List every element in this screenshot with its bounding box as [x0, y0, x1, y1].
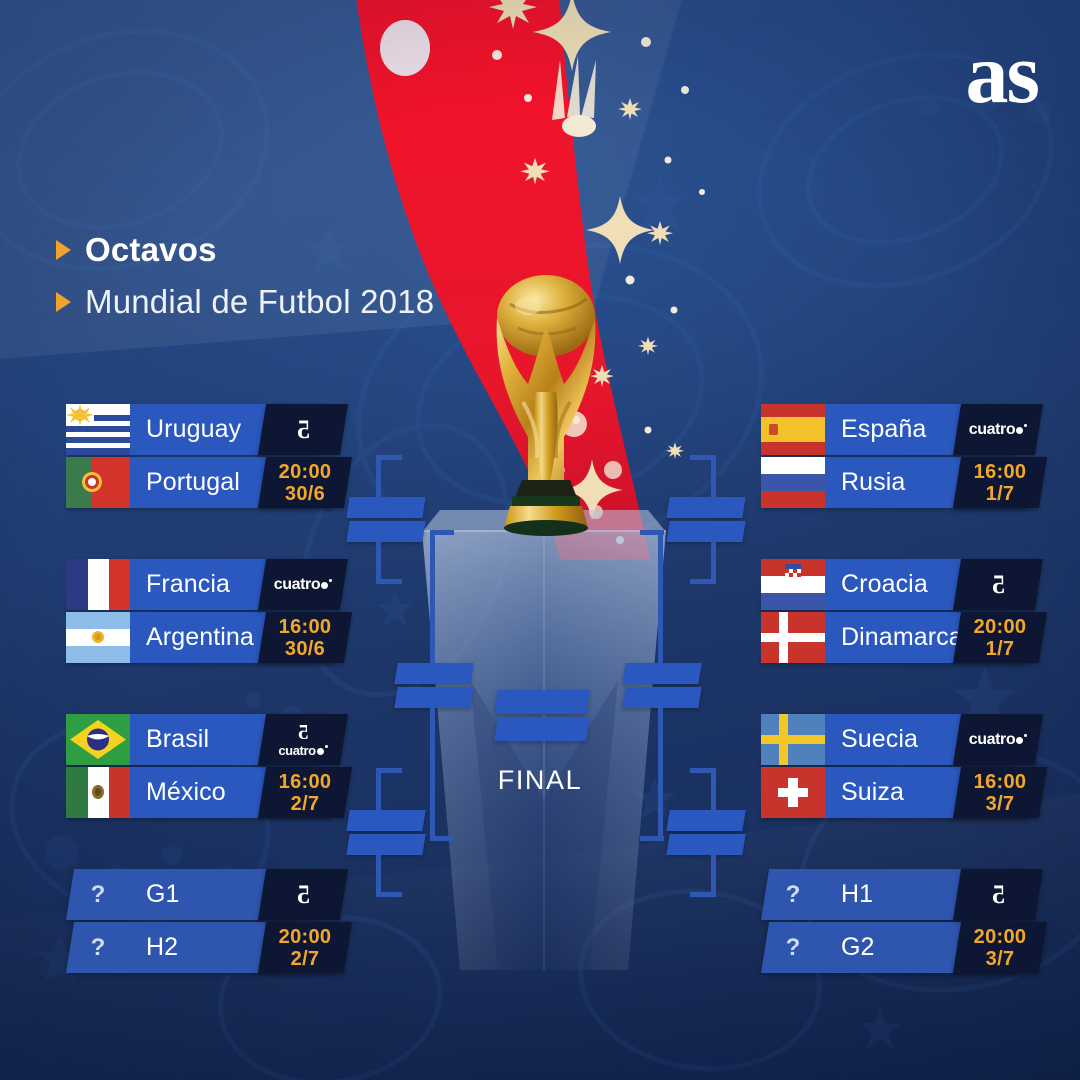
match-row-top[interactable]: Croacia 5 — [761, 559, 1013, 610]
channel-cell[interactable]: 5 — [957, 559, 1039, 610]
unknown-team-icon: ? — [761, 922, 825, 973]
match-row-bottom[interactable]: Dinamarca 20:00 1/7 — [761, 612, 1027, 663]
kickoff-cell: 20:00 30/6 — [262, 457, 348, 508]
match-g1-h2[interactable]: ? G1 5 ? H2 20:00 2/7 — [66, 869, 344, 973]
match-row-top[interactable]: Uruguay 5 — [66, 404, 318, 455]
qf-slot-right-2-top[interactable] — [666, 810, 745, 831]
connector-right-2b — [711, 855, 716, 897]
mexico-flag — [66, 767, 130, 818]
match-row-bottom[interactable]: ? H2 20:00 2/7 — [66, 922, 332, 973]
match-row-bottom[interactable]: Argentina 16:00 30/6 — [66, 612, 332, 663]
kickoff-cell: 16:00 3/7 — [957, 767, 1043, 818]
channel-cell[interactable]: 5 — [262, 869, 344, 920]
connector-right-sf-a-cap — [640, 530, 664, 535]
telecinco-logo-icon: 5 — [992, 882, 1005, 908]
sf-slot-right-bottom[interactable] — [622, 687, 701, 708]
match-row-top[interactable]: ? G1 5 — [66, 869, 318, 920]
connector-left-sf-a-cap — [430, 530, 454, 535]
match-uruguay-portugal[interactable]: Uruguay 5 Portugal 20:00 30/6 — [66, 404, 344, 508]
kickoff-time: 16:00 — [974, 771, 1027, 793]
kickoff-time: 20:00 — [974, 616, 1027, 638]
unknown-team-icon: ? — [66, 922, 130, 973]
connector-right-1b-cap — [690, 579, 716, 584]
match-espana-rusia[interactable]: España cuatro Rusia 16:00 1/7 — [761, 404, 1039, 508]
kickoff-date: 3/7 — [974, 948, 1027, 970]
channel-cell[interactable]: cuatro — [957, 404, 1039, 455]
channel-cell[interactable]: 5 — [957, 869, 1039, 920]
qf-slot-right-1-top[interactable] — [666, 497, 745, 518]
match-h1-g2[interactable]: ? H1 5 ? G2 20:00 3/7 — [761, 869, 1039, 973]
qf-slot-right-2-bottom[interactable] — [666, 834, 745, 855]
portugal-flag — [66, 457, 130, 508]
qf-slot-left-1-bottom[interactable] — [346, 521, 425, 542]
qf-slot-right-1-bottom[interactable] — [666, 521, 745, 542]
page-title: Octavos — [85, 231, 217, 269]
match-brasil-mexico[interactable]: Brasil 5cuatro México 16:00 2/7 — [66, 714, 344, 818]
argentina-flag — [66, 612, 130, 663]
telecinco-logo-icon: 5 — [297, 882, 310, 908]
kickoff-date: 30/6 — [279, 638, 332, 660]
title-row-tournament: Mundial de Futbol 2018 — [56, 280, 434, 324]
match-suecia-suiza[interactable]: Suecia cuatro Suiza 16:00 3/7 — [761, 714, 1039, 818]
channel-cell[interactable]: 5 — [262, 404, 344, 455]
kickoff-cell: 16:00 1/7 — [957, 457, 1043, 508]
connector-left-1b — [376, 542, 381, 584]
kickoff-time: 20:00 — [279, 461, 332, 483]
kickoff-cell: 20:00 3/7 — [957, 922, 1043, 973]
connector-right-1a — [711, 455, 716, 497]
kickoff-time: 16:00 — [279, 771, 332, 793]
sf-slot-left-top[interactable] — [394, 663, 473, 684]
dinamarca-flag — [761, 612, 825, 663]
qf-slot-left-2-top[interactable] — [346, 810, 425, 831]
cuatro-logo-icon: cuatro — [278, 744, 327, 757]
triangle-bullet-icon — [56, 292, 71, 312]
as-logo[interactable]: as — [966, 30, 1038, 116]
kickoff-cell: 16:00 30/6 — [262, 612, 348, 663]
match-row-bottom[interactable]: México 16:00 2/7 — [66, 767, 332, 818]
telecinco-logo-icon: 5 — [992, 572, 1005, 598]
match-row-bottom[interactable]: ? G2 20:00 3/7 — [761, 922, 1027, 973]
kickoff-date: 1/7 — [974, 638, 1027, 660]
connector-left-1a — [376, 455, 381, 497]
channel-cell[interactable]: cuatro — [957, 714, 1039, 765]
kickoff-cell: 20:00 2/7 — [262, 922, 348, 973]
kickoff-time: 16:00 — [279, 616, 332, 638]
connector-left-2b-cap — [376, 892, 402, 897]
connector-left-1a-cap — [376, 455, 402, 460]
suecia-flag — [761, 714, 825, 765]
match-row-top[interactable]: Francia cuatro — [66, 559, 318, 610]
cuatro-logo-icon: cuatro — [969, 422, 1028, 438]
qf-slot-left-2-bottom[interactable] — [346, 834, 425, 855]
match-row-top[interactable]: Suecia cuatro — [761, 714, 1013, 765]
match-row-top[interactable]: España cuatro — [761, 404, 1013, 455]
unknown-team-icon: ? — [66, 869, 130, 920]
connector-right-1a-cap — [690, 455, 716, 460]
croacia-flag — [761, 559, 825, 610]
infographic-canvas: FINAL as Octavos Mundial de Futbol 2018 … — [0, 0, 1080, 1080]
sf-slot-right-top[interactable] — [622, 663, 701, 684]
telecinco-logo-icon: 5 — [298, 722, 309, 743]
matches-column-right: España cuatro Rusia 16:00 1/7 — [761, 404, 1039, 973]
connector-left-1b-cap — [376, 579, 402, 584]
uruguay-flag — [66, 404, 130, 455]
connector-left-sf-b-cap — [430, 836, 454, 841]
matches-column-left: Uruguay 5 Portugal 20:00 30/6 Francia — [66, 404, 344, 973]
title-block: Octavos Mundial de Futbol 2018 — [56, 228, 434, 324]
suiza-flag — [761, 767, 825, 818]
rusia-flag — [761, 457, 825, 508]
qf-slot-left-1-top[interactable] — [346, 497, 425, 518]
kickoff-date: 2/7 — [279, 948, 332, 970]
telecinco-logo-icon: 5 — [297, 417, 310, 443]
kickoff-date: 3/7 — [974, 793, 1027, 815]
match-croacia-dinamarca[interactable]: Croacia 5 Dinamarca 20:00 1/7 — [761, 559, 1039, 663]
kickoff-cell: 16:00 2/7 — [262, 767, 348, 818]
kickoff-date: 2/7 — [279, 793, 332, 815]
match-row-bottom[interactable]: Rusia 16:00 1/7 — [761, 457, 1027, 508]
match-row-bottom[interactable]: Suiza 16:00 3/7 — [761, 767, 1027, 818]
kickoff-time: 20:00 — [279, 926, 332, 948]
kickoff-time: 20:00 — [974, 926, 1027, 948]
kickoff-date: 1/7 — [974, 483, 1027, 505]
connector-right-sf-a — [658, 530, 663, 663]
connector-left-sf-a — [430, 530, 435, 663]
connector-right-2b-cap — [690, 892, 716, 897]
match-francia-argentina[interactable]: Francia cuatro Argentina 16:00 30/6 — [66, 559, 344, 663]
final-slot-bottom[interactable] — [494, 717, 590, 741]
match-row-bottom[interactable]: Portugal 20:00 30/6 — [66, 457, 332, 508]
cuatro-logo-icon: cuatro — [969, 732, 1028, 748]
kickoff-date: 30/6 — [279, 483, 332, 505]
brasil-flag — [66, 714, 130, 765]
final-slot-top[interactable] — [494, 690, 590, 714]
page-subtitle: Mundial de Futbol 2018 — [85, 283, 434, 321]
connector-left-2b — [376, 855, 381, 897]
channel-cell[interactable]: cuatro — [262, 559, 344, 610]
cuatro-logo-icon: cuatro — [274, 577, 333, 593]
unknown-team-icon: ? — [761, 869, 825, 920]
triangle-bullet-icon — [56, 240, 71, 260]
kickoff-cell: 20:00 1/7 — [957, 612, 1043, 663]
connector-right-sf-b-cap — [640, 836, 664, 841]
espana-flag — [761, 404, 825, 455]
francia-flag — [66, 559, 130, 610]
title-row-stage: Octavos — [56, 228, 434, 272]
match-row-top[interactable]: Brasil 5cuatro — [66, 714, 318, 765]
connector-right-1b — [711, 542, 716, 584]
match-row-top[interactable]: ? H1 5 — [761, 869, 1013, 920]
sf-slot-left-bottom[interactable] — [394, 687, 473, 708]
channel-cell[interactable]: 5cuatro — [262, 714, 344, 765]
kickoff-time: 16:00 — [974, 461, 1027, 483]
